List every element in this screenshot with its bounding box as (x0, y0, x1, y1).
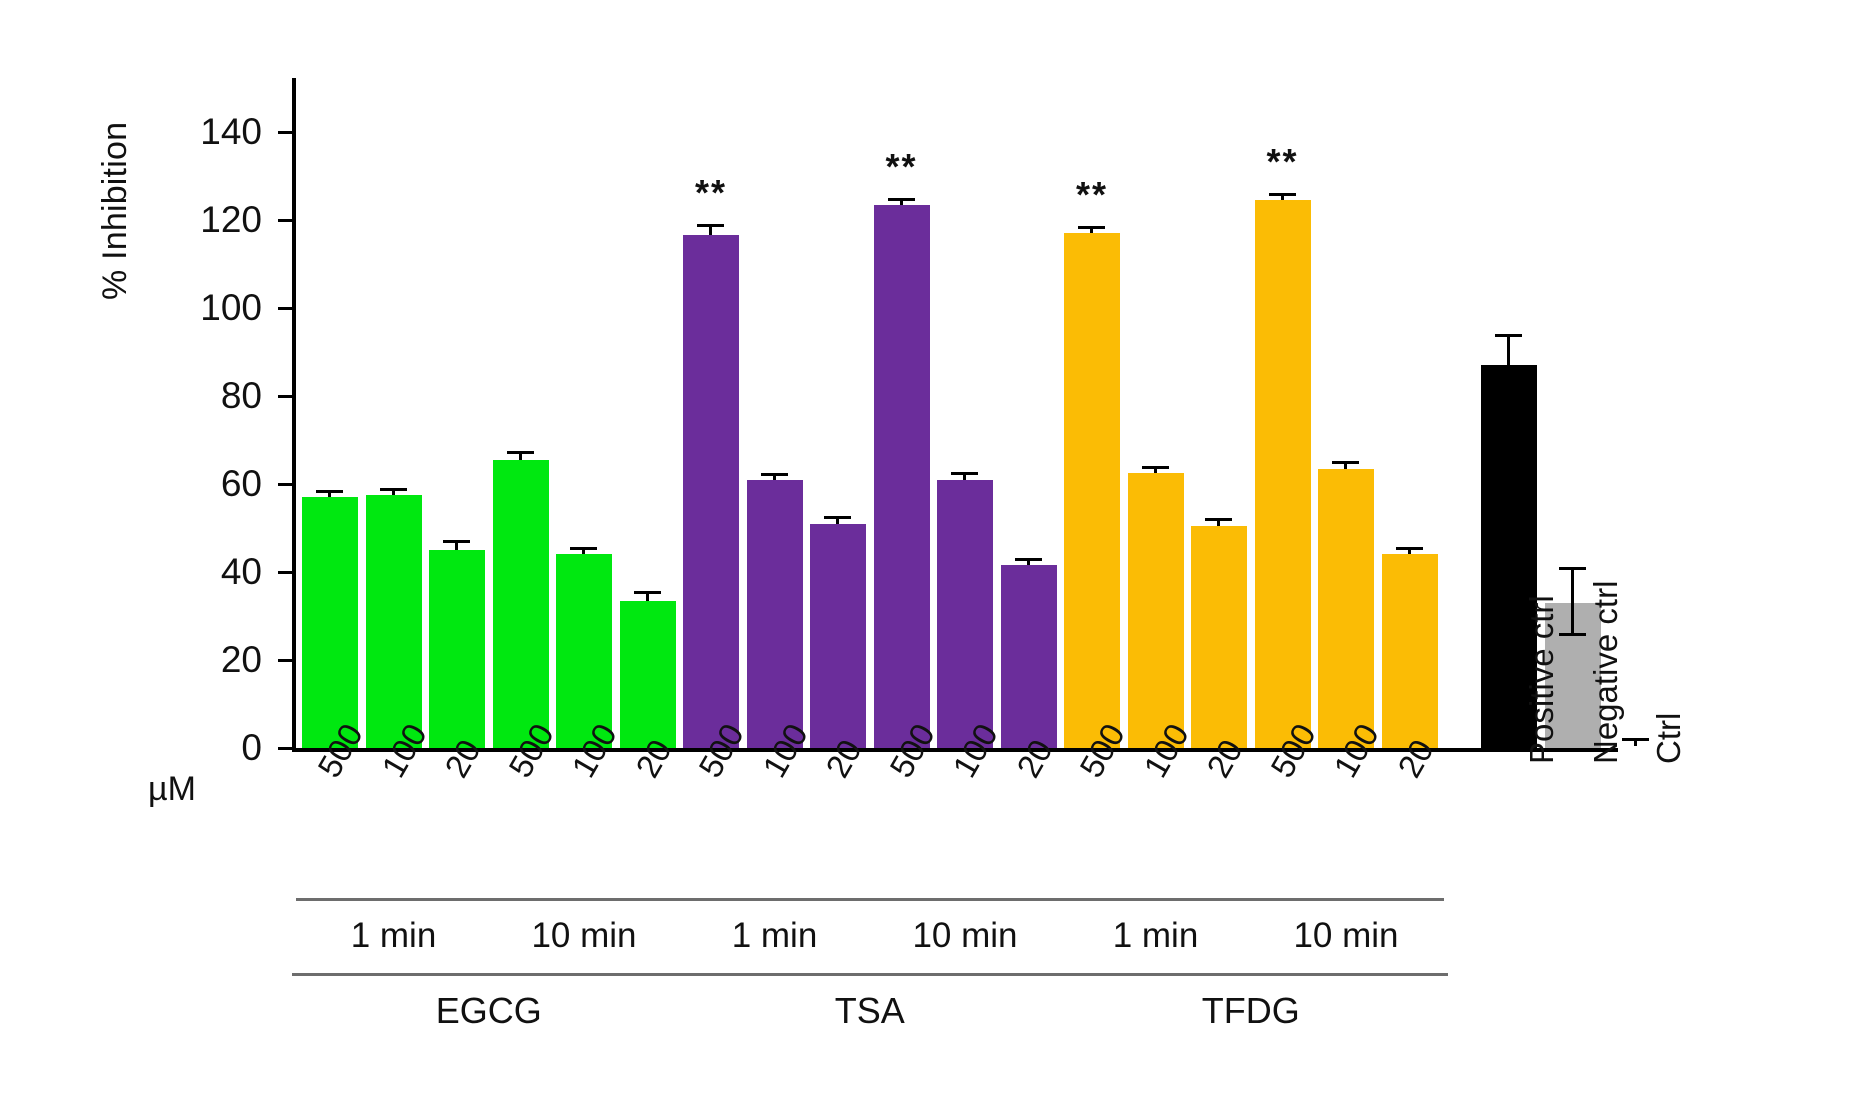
bar[interactable] (1128, 473, 1184, 748)
y-axis-tick-label: 20 (144, 641, 262, 678)
bar[interactable] (429, 550, 485, 748)
error-bar-cap (1078, 226, 1105, 229)
time-group-rule (1249, 898, 1444, 901)
error-bar-stem (836, 519, 839, 523)
y-axis-tick (278, 395, 296, 398)
y-axis-tick (278, 483, 296, 486)
error-bar-stem (328, 493, 331, 497)
compound-group-rule (673, 973, 1067, 976)
bar[interactable] (874, 205, 930, 748)
figure-bar-chart: % Inhibition µM 020406080100120140 *****… (0, 0, 1866, 1102)
bar[interactable] (302, 497, 358, 748)
error-bar-stem (519, 454, 522, 460)
error-bar-stem (1217, 521, 1220, 525)
significance-marker: ** (864, 149, 940, 185)
significance-marker: ** (1054, 177, 1130, 213)
error-bar-stem (1634, 741, 1637, 746)
error-bar-stem (1344, 464, 1347, 468)
plot-area: 020406080100120140 ******** 500100205001… (292, 88, 1616, 748)
time-group-rule (487, 898, 682, 901)
y-axis-tick (278, 747, 296, 750)
y-axis-tick (278, 659, 296, 662)
error-bar-stem (1408, 550, 1411, 554)
error-bar-stem (1027, 561, 1030, 565)
error-bar-stem (1281, 196, 1284, 200)
error-bar-stem (582, 550, 585, 554)
error-bar-cap (761, 473, 788, 476)
error-bar-stem-lower (1571, 603, 1574, 636)
y-axis-tick (278, 571, 296, 574)
y-axis-tick-label: 60 (144, 465, 262, 502)
error-bar-cap (570, 547, 597, 550)
error-bar-cap (1622, 738, 1649, 741)
error-bar-cap (888, 198, 915, 201)
y-axis-tick (278, 219, 296, 222)
error-bar-cap (1142, 466, 1169, 469)
bar[interactable] (1001, 565, 1057, 748)
time-group-rule (296, 898, 491, 901)
bar[interactable] (556, 554, 612, 748)
y-axis-tick-label: 40 (144, 553, 262, 590)
compound-group-rule (292, 973, 686, 976)
y-axis-tick-label: 80 (144, 377, 262, 414)
control-axis-label: Ctrl (1652, 713, 1685, 764)
error-bar-cap (1015, 558, 1042, 561)
error-bar-stem (455, 543, 458, 550)
error-bar-stem (1571, 570, 1574, 603)
x-axis-unit-label: µM (148, 770, 196, 809)
error-bar-stem (709, 227, 712, 236)
error-bar-stem-lower (1507, 365, 1510, 394)
y-axis-tick (278, 307, 296, 310)
bar[interactable] (620, 601, 676, 748)
error-bar-stem (900, 201, 903, 205)
y-axis-tick-label: 120 (144, 201, 262, 238)
error-bar-stem (1090, 229, 1093, 233)
error-bar-stem (646, 594, 649, 601)
error-bar-cap (951, 472, 978, 475)
bar[interactable] (366, 495, 422, 748)
bar[interactable] (937, 480, 993, 748)
error-bar-stem (1154, 469, 1157, 473)
error-bar-cap (1396, 547, 1423, 550)
error-bar-stem (773, 476, 776, 480)
time-group-rule (1058, 898, 1253, 901)
y-axis-tick-label: 140 (144, 113, 262, 150)
time-group-rule (677, 898, 872, 901)
bar[interactable] (683, 235, 739, 748)
compound-group-label: EGCG (272, 993, 706, 1029)
bar[interactable] (1382, 554, 1438, 748)
bar[interactable] (1318, 469, 1374, 748)
y-axis-tick (278, 131, 296, 134)
error-bar-cap (443, 540, 470, 543)
compound-group-rule (1054, 973, 1448, 976)
bar[interactable] (747, 480, 803, 748)
error-bar-cap (316, 490, 343, 493)
error-bar-stem (963, 475, 966, 479)
compound-group-label: TFDG (1034, 993, 1468, 1029)
error-bar-cap (1559, 567, 1586, 570)
bar[interactable] (493, 460, 549, 748)
error-bar-stem (392, 491, 395, 495)
bar[interactable] (1064, 233, 1120, 748)
bar[interactable] (810, 524, 866, 748)
error-bar-cap (697, 224, 724, 227)
time-group-label: 10 min (1229, 918, 1464, 953)
error-bar-cap (824, 516, 851, 519)
significance-marker: ** (1245, 144, 1321, 180)
time-group-rule (868, 898, 1063, 901)
significance-marker: ** (673, 175, 749, 211)
error-bar-cap (634, 591, 661, 594)
y-axis-title: % Inhibition (96, 122, 135, 300)
compound-group-label: TSA (653, 993, 1087, 1029)
error-bar-cap (1495, 334, 1522, 337)
error-bar-stem (1507, 337, 1510, 366)
error-bar-cap (380, 488, 407, 491)
error-bar-cap (1269, 193, 1296, 196)
bar[interactable] (1255, 200, 1311, 748)
y-axis-tick-label: 100 (144, 289, 262, 326)
error-bar-cap (1332, 461, 1359, 464)
y-axis-line (292, 78, 296, 748)
control-axis-label: Positive ctrl (1525, 595, 1558, 764)
bar[interactable] (1191, 526, 1247, 748)
error-bar-cap (1205, 518, 1232, 521)
control-axis-label: Negative ctrl (1589, 581, 1622, 764)
error-bar-cap (507, 451, 534, 454)
y-axis-tick-label: 0 (144, 729, 262, 766)
